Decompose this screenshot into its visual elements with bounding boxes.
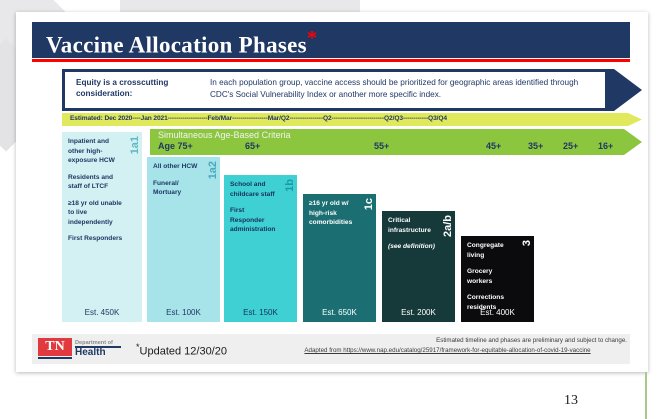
title-bar: Vaccine Allocation Phases*	[32, 22, 630, 58]
phase-criteria-line: Congregate living	[467, 241, 516, 260]
disclaimer-text: Estimated timeline and phases are prelim…	[342, 337, 627, 344]
page-title: Vaccine Allocation Phases*	[46, 27, 317, 59]
phase-1a2-number: 1a2	[207, 161, 219, 179]
phase-column-1a2[interactable]: All other HCWFuneral/ Mortuary1a2Est. 10…	[147, 157, 220, 322]
phase-column-2ab[interactable]: Critical infrastructure(see definition)2…	[382, 211, 455, 322]
phase-column-1a1[interactable]: Inpatient and other high-exposure HCWRes…	[62, 132, 142, 322]
equity-inner-panel: Equity is a crosscutting consideration: …	[65, 72, 605, 108]
equity-label: Equity is a crosscutting consideration:	[76, 77, 201, 99]
tn-health-label: Health	[75, 347, 106, 358]
source-link[interactable]: Adapted from https://www.nap.edu/catalog…	[268, 347, 627, 354]
age-tick-25-: 25+	[563, 141, 578, 151]
title-divider	[32, 59, 630, 62]
decorative-top-strip	[120, 0, 360, 12]
phase-criteria-line: Funeral/ Mortuary	[153, 179, 202, 198]
page-number: 13	[564, 393, 578, 409]
estimated-timeline-arrow: Estimated: Dec 2020----Jan 2021---------…	[62, 113, 642, 126]
phase-criteria-line: First Responder administration	[230, 206, 279, 235]
phase-criteria-line: Inpatient and other high-exposure HCW	[68, 137, 124, 166]
phase-2ab-number: 2a/b	[442, 215, 454, 237]
phase-1a2-estimate: Est. 100K	[147, 308, 220, 317]
tn-logo-underline	[38, 357, 72, 359]
phase-column-3[interactable]: Congregate livingGrocery workersCorrecti…	[461, 236, 534, 322]
phase-1c-estimate: Est. 650K	[303, 308, 376, 317]
phase-2ab-estimate: Est. 200K	[382, 308, 455, 317]
phase-criteria-line: All other HCW	[153, 162, 202, 172]
age-tick-16-: 16+	[598, 141, 613, 151]
updated-text: Updated 12/30/20	[140, 346, 227, 358]
phase-3-estimate: Est. 400K	[461, 308, 534, 317]
phase-1b-criteria: School and childcare staffFirst Responde…	[230, 180, 279, 242]
phase-column-1c[interactable]: ≥16 yr old w/ high-risk comorbidities1cE…	[303, 194, 376, 322]
phase-1a1-estimate: Est. 450K	[62, 308, 142, 317]
phase-3-number: 3	[521, 240, 533, 246]
decorative-right-line	[645, 372, 647, 419]
phase-2ab-criteria: Critical infrastructure(see definition)	[388, 216, 437, 259]
age-tick-35-: 35+	[528, 141, 543, 151]
phase-1a1-criteria: Inpatient and other high-exposure HCWRes…	[68, 137, 124, 251]
slide-canvas: Vaccine Allocation Phases* Equity is a c…	[16, 12, 648, 372]
footer-bar: TN Department of Health *Updated 12/30/2…	[32, 334, 630, 364]
updated-label: *Updated 12/30/20	[136, 342, 227, 358]
equity-body-text: In each population group, vaccine access…	[210, 77, 600, 101]
phase-1a1-number: 1a1	[129, 136, 141, 154]
phase-criteria-line: Critical infrastructure	[388, 216, 437, 235]
phase-criteria-line: First Responders	[68, 234, 124, 244]
page-title-text: Vaccine Allocation Phases	[46, 33, 307, 58]
equity-banner: Equity is a crosscutting consideration: …	[62, 69, 642, 111]
age-tick-age-75-: Age 75+	[158, 141, 193, 151]
phase-column-1b[interactable]: School and childcare staffFirst Responde…	[224, 175, 297, 322]
age-criteria-arrow: Simultaneous Age-Based Criteria Age 75+6…	[150, 129, 642, 155]
phase-1b-estimate: Est. 150K	[224, 308, 297, 317]
phase-criteria-line: Grocery workers	[467, 267, 516, 286]
age-tick-55-: 55+	[374, 141, 389, 151]
phase-criteria-line: Residents and staff of LTCF	[68, 173, 124, 192]
phase-1c-number: 1c	[363, 198, 375, 210]
phase-1c-criteria: ≥16 yr old w/ high-risk comorbidities	[309, 199, 358, 235]
age-tick-45-: 45+	[486, 141, 501, 151]
tn-logo: TN	[38, 338, 72, 356]
age-criteria-heading: Simultaneous Age-Based Criteria	[158, 130, 291, 140]
title-asterisk: *	[307, 27, 317, 49]
age-tick-65-: 65+	[245, 141, 260, 151]
estimated-timeline-label: Estimated: Dec 2020----Jan 2021---------…	[70, 115, 447, 122]
phase-1b-number: 1b	[284, 179, 296, 192]
phase-criteria-line: ≥16 yr old w/ high-risk comorbidities	[309, 199, 358, 228]
phase-criteria-line: (see definition)	[388, 242, 437, 252]
phase-criteria-line: ≥18 yr old unable to live independently	[68, 199, 124, 228]
phase-criteria-line: School and childcare staff	[230, 180, 279, 199]
phase-1a2-criteria: All other HCWFuneral/ Mortuary	[153, 162, 202, 205]
